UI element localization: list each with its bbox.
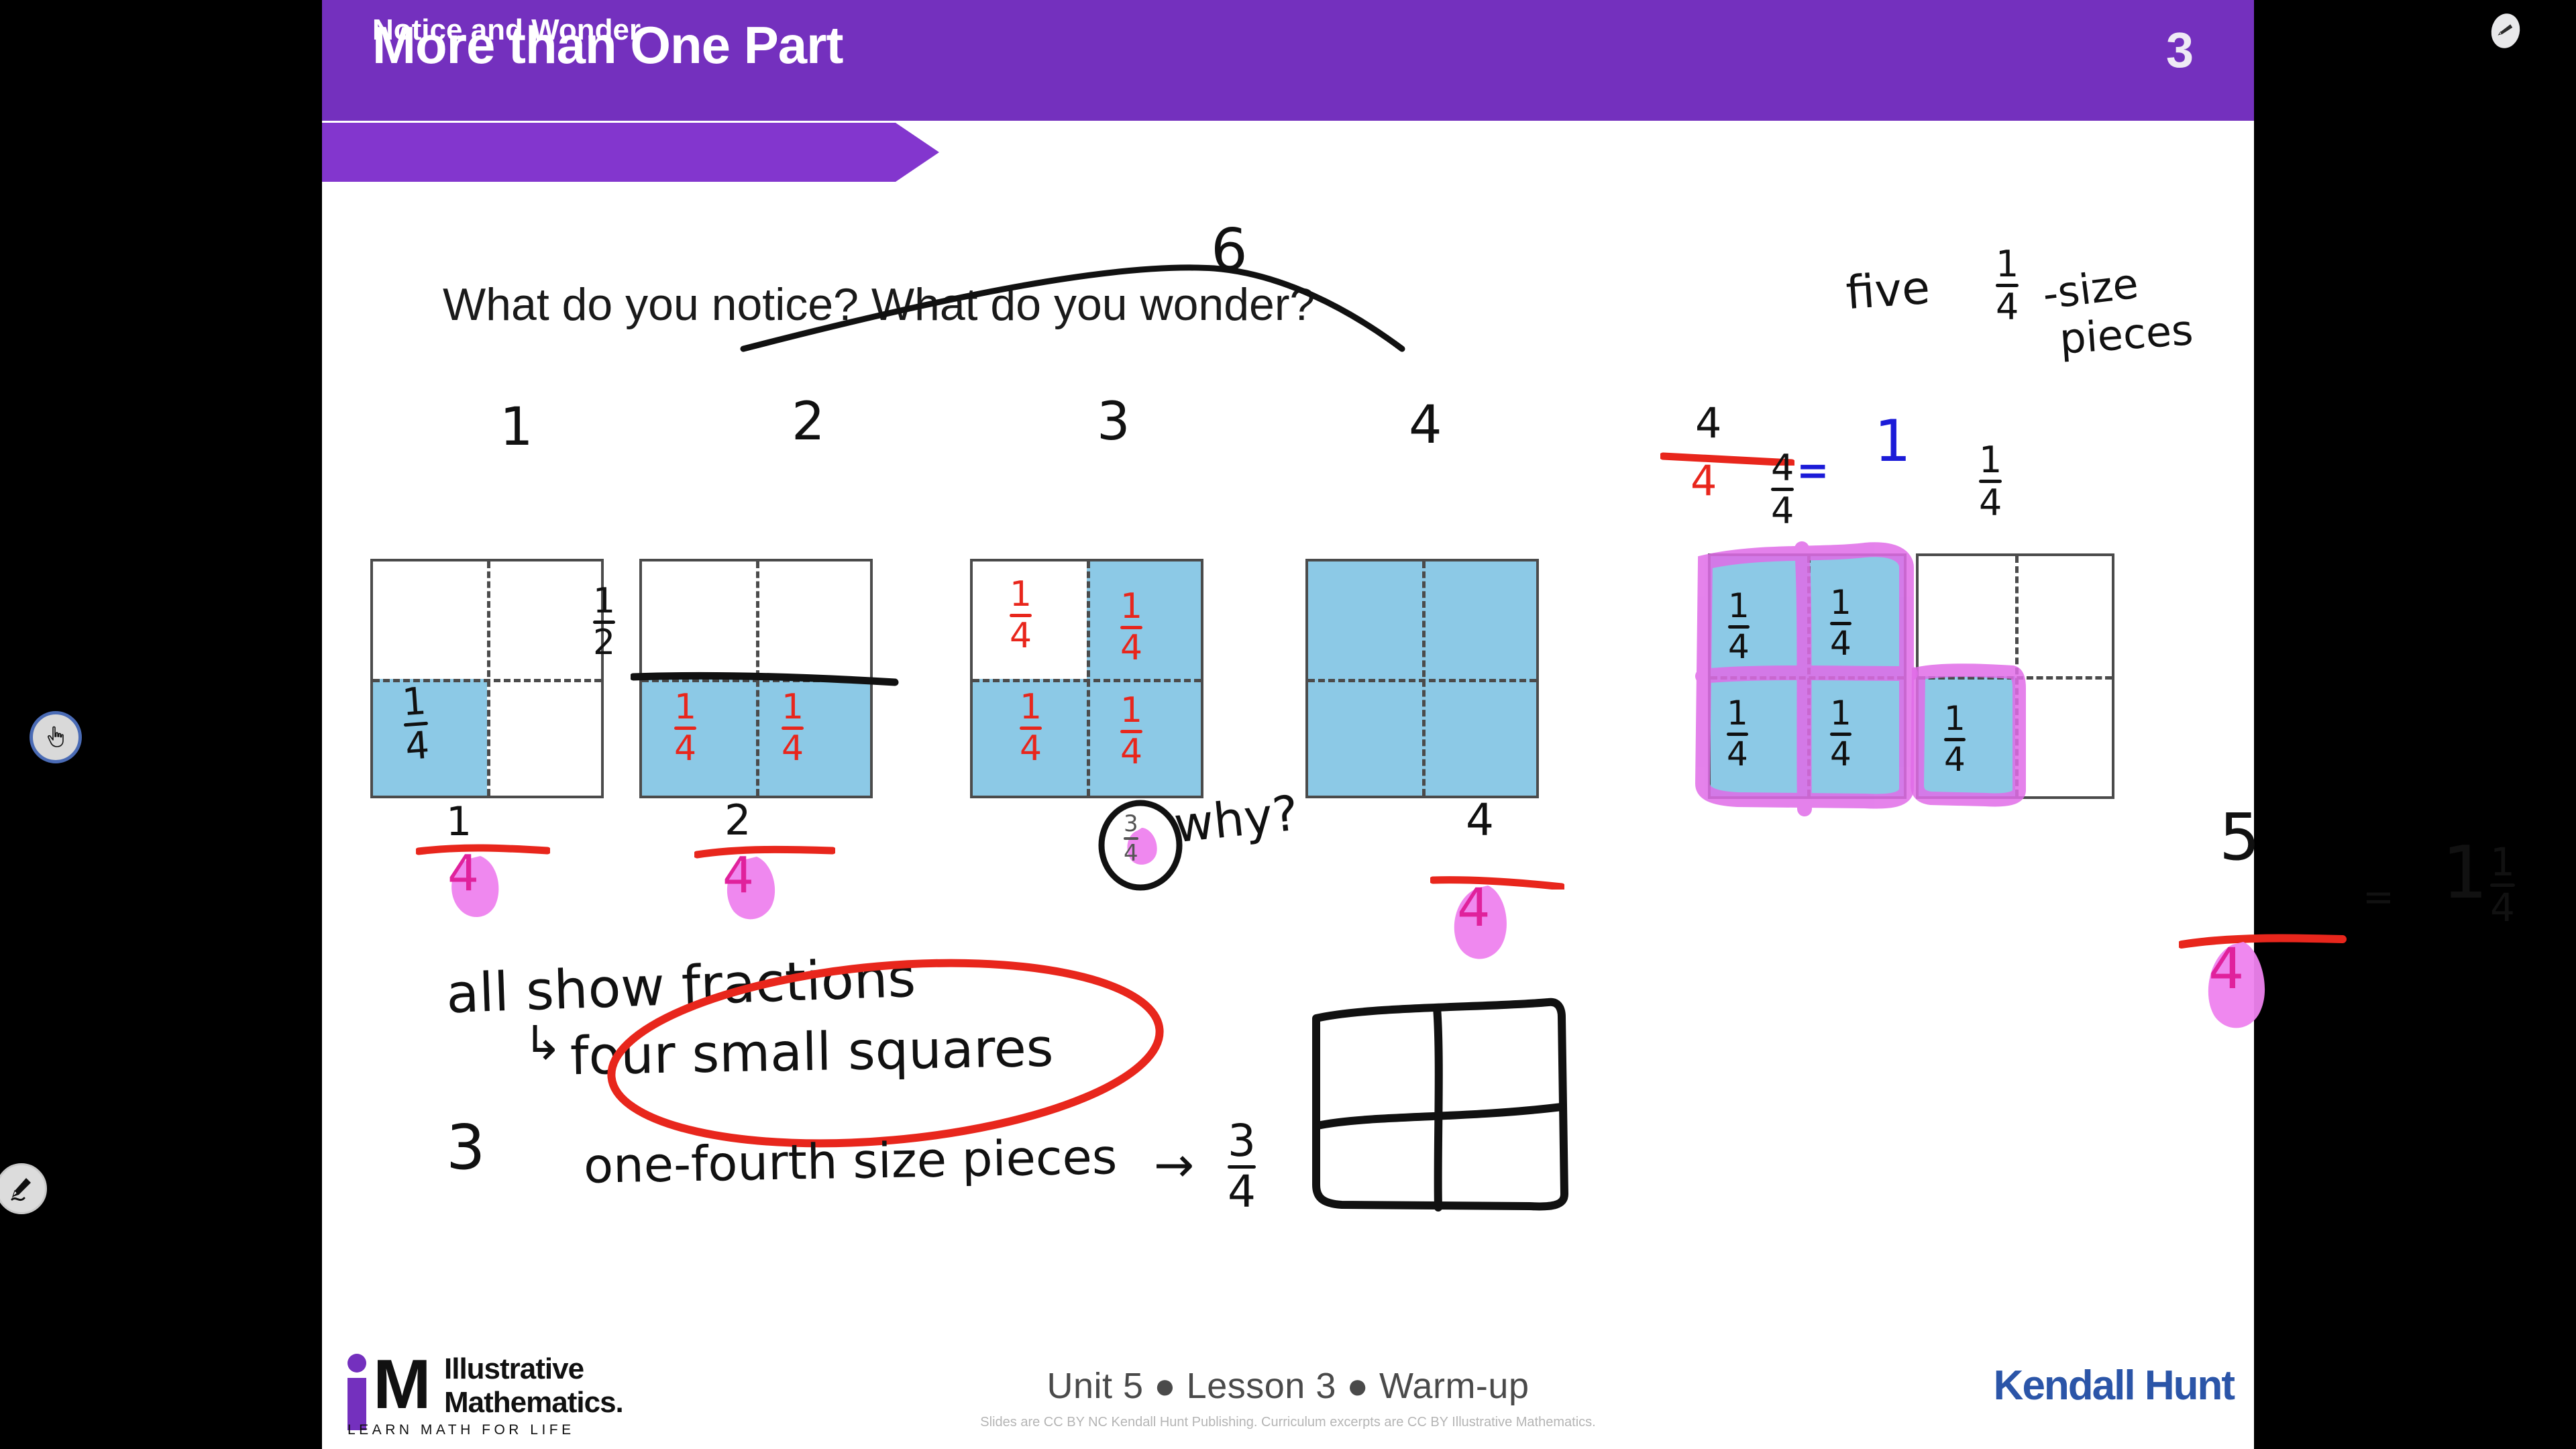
annotation-number-6: 6 bbox=[1211, 221, 1248, 279]
quadrant-bottom-right bbox=[1087, 679, 1201, 796]
circled-fraction-3-4: 3 4 bbox=[1124, 813, 1138, 865]
horizontal-divider bbox=[1711, 676, 1904, 680]
five-word: five bbox=[1845, 266, 1931, 317]
note-all-show-fractions: all show fractions bbox=[445, 951, 916, 1021]
annotation-number-1-below: 1 bbox=[446, 802, 472, 842]
logo-word-illustrative: Illustrative bbox=[444, 1352, 584, 1386]
square-5-quarter-br: 1 4 bbox=[1830, 698, 1851, 770]
note-arrow-right: → bbox=[1154, 1140, 1194, 1189]
fraction-above-square-5: 4 4 bbox=[1771, 451, 1794, 529]
slide-number: 3 bbox=[2166, 21, 2194, 78]
hand-drawn-half-line bbox=[631, 667, 899, 690]
pencil-icon bbox=[5, 1173, 38, 1205]
numerator-below-4: 4 bbox=[1466, 798, 1494, 843]
quadrant-top-left bbox=[1308, 561, 1422, 679]
horizontal-divider bbox=[1308, 679, 1536, 682]
pointing-hand-icon bbox=[42, 724, 69, 751]
square-6-quarter-bl: 1 4 bbox=[1944, 703, 1966, 775]
denominator-1: 4 bbox=[447, 849, 479, 898]
kendall-hunt-logo: Kendall Hunt bbox=[1994, 1362, 2234, 1409]
square-5-quarter-tr: 1 4 bbox=[1830, 587, 1851, 659]
warmup-question: What do you notice? What do you wonder? bbox=[443, 278, 1315, 331]
fraction-square-1 bbox=[370, 559, 604, 798]
annotation-number-3: 3 bbox=[1097, 396, 1130, 448]
quadrant-top-right bbox=[1807, 556, 1904, 676]
denominator-below-4: 4 bbox=[1457, 882, 1491, 934]
note-three-fourths-fraction: 3 4 bbox=[1228, 1120, 1256, 1213]
why-annotation: why? bbox=[1172, 789, 1301, 850]
illustrative-mathematics-logo: M Illustrative Mathematics. LEARN MATH F… bbox=[342, 1348, 691, 1436]
quadrant-top-right bbox=[1087, 561, 1201, 679]
logo-m-glyph: M bbox=[373, 1354, 427, 1417]
logo-tagline: LEARN MATH FOR LIFE bbox=[347, 1422, 575, 1438]
fraction-square-4 bbox=[1305, 559, 1539, 798]
annotation-number-4: 4 bbox=[1409, 399, 1442, 451]
numerator-above-4: 4 bbox=[1695, 402, 1721, 444]
square-3-quarter-tr: 1 4 bbox=[1120, 590, 1142, 665]
section-banner-label: Notice and Wonder bbox=[372, 13, 641, 47]
fraction-square-3 bbox=[970, 559, 1203, 798]
quadrant-bottom-left bbox=[1308, 679, 1422, 796]
quadrant-bottom-left bbox=[1919, 676, 2015, 796]
annotation-number-2: 2 bbox=[792, 396, 825, 448]
denominator-2: 4 bbox=[722, 851, 754, 900]
screen: More than One Part 3 Notice and Wonder W… bbox=[0, 0, 2576, 1449]
pencil-cursor-icon bbox=[2488, 11, 2523, 51]
pieces-word: pieces bbox=[2058, 309, 2194, 360]
fraction-above-square-6: 1 4 bbox=[1979, 443, 2002, 521]
size-suffix: -size bbox=[2041, 263, 2141, 316]
denominator-5: 4 bbox=[2208, 941, 2244, 997]
square-2-quarter-label-right: 1 4 bbox=[782, 691, 804, 766]
hand-tool-button[interactable] bbox=[30, 711, 82, 763]
numerator-5: 5 bbox=[2219, 805, 2260, 869]
quadrant-top-left bbox=[1711, 556, 1807, 676]
annotation-number-1: 1 bbox=[500, 401, 533, 453]
note-one-fourth-size-pieces: one-fourth size pieces bbox=[583, 1132, 1117, 1190]
mixed-fraction-part: 1 4 bbox=[2490, 844, 2515, 926]
result-one-blue: 1 bbox=[1874, 413, 1911, 470]
quadrant-top-right bbox=[1422, 561, 1536, 679]
quadrant-bottom-left bbox=[373, 679, 487, 796]
section-banner bbox=[322, 123, 939, 182]
note-four-small-squares: four small squares bbox=[570, 1022, 1054, 1083]
note-arrow-marker: ↳ bbox=[523, 1020, 563, 1067]
pen-tool-button[interactable] bbox=[0, 1163, 47, 1214]
horizontal-divider bbox=[1919, 676, 2112, 680]
quadrant-bottom-right bbox=[1807, 676, 1904, 796]
quadrant-bottom-left bbox=[642, 679, 756, 796]
note-number-3: 3 bbox=[446, 1117, 486, 1179]
slide-canvas: More than One Part 3 Notice and Wonder W… bbox=[322, 0, 2254, 1449]
square-3-quarter-bl: 1 4 bbox=[1020, 691, 1042, 766]
square-3-quarter-br: 1 4 bbox=[1120, 694, 1142, 769]
mixed-whole-number: 1 bbox=[2442, 837, 2488, 910]
square-2-quarter-label-left: 1 4 bbox=[674, 691, 696, 766]
square-2-half-label: 1 2 bbox=[593, 585, 615, 660]
square-5-quarter-bl: 1 4 bbox=[1727, 698, 1748, 770]
five-quarter-fraction: 1 4 bbox=[1996, 247, 2019, 325]
quadrant-bottom-right bbox=[1422, 679, 1536, 796]
logo-i-dot bbox=[347, 1354, 366, 1373]
denominator-above-4: 4 bbox=[1690, 460, 1717, 502]
logo-word-mathematics: Mathematics. bbox=[444, 1386, 623, 1419]
equals-sign-blue: = bbox=[1796, 451, 1829, 490]
square-5-quarter-tl: 1 4 bbox=[1728, 590, 1750, 663]
numerator-2: 2 bbox=[724, 800, 751, 841]
square-3-quarter-tl: 1 4 bbox=[1010, 578, 1032, 653]
quadrant-bottom-right bbox=[756, 679, 870, 796]
equals-sign-5: = bbox=[2363, 879, 2394, 916]
quadrant-bottom-left bbox=[1711, 676, 1807, 796]
horizontal-divider bbox=[973, 679, 1201, 682]
